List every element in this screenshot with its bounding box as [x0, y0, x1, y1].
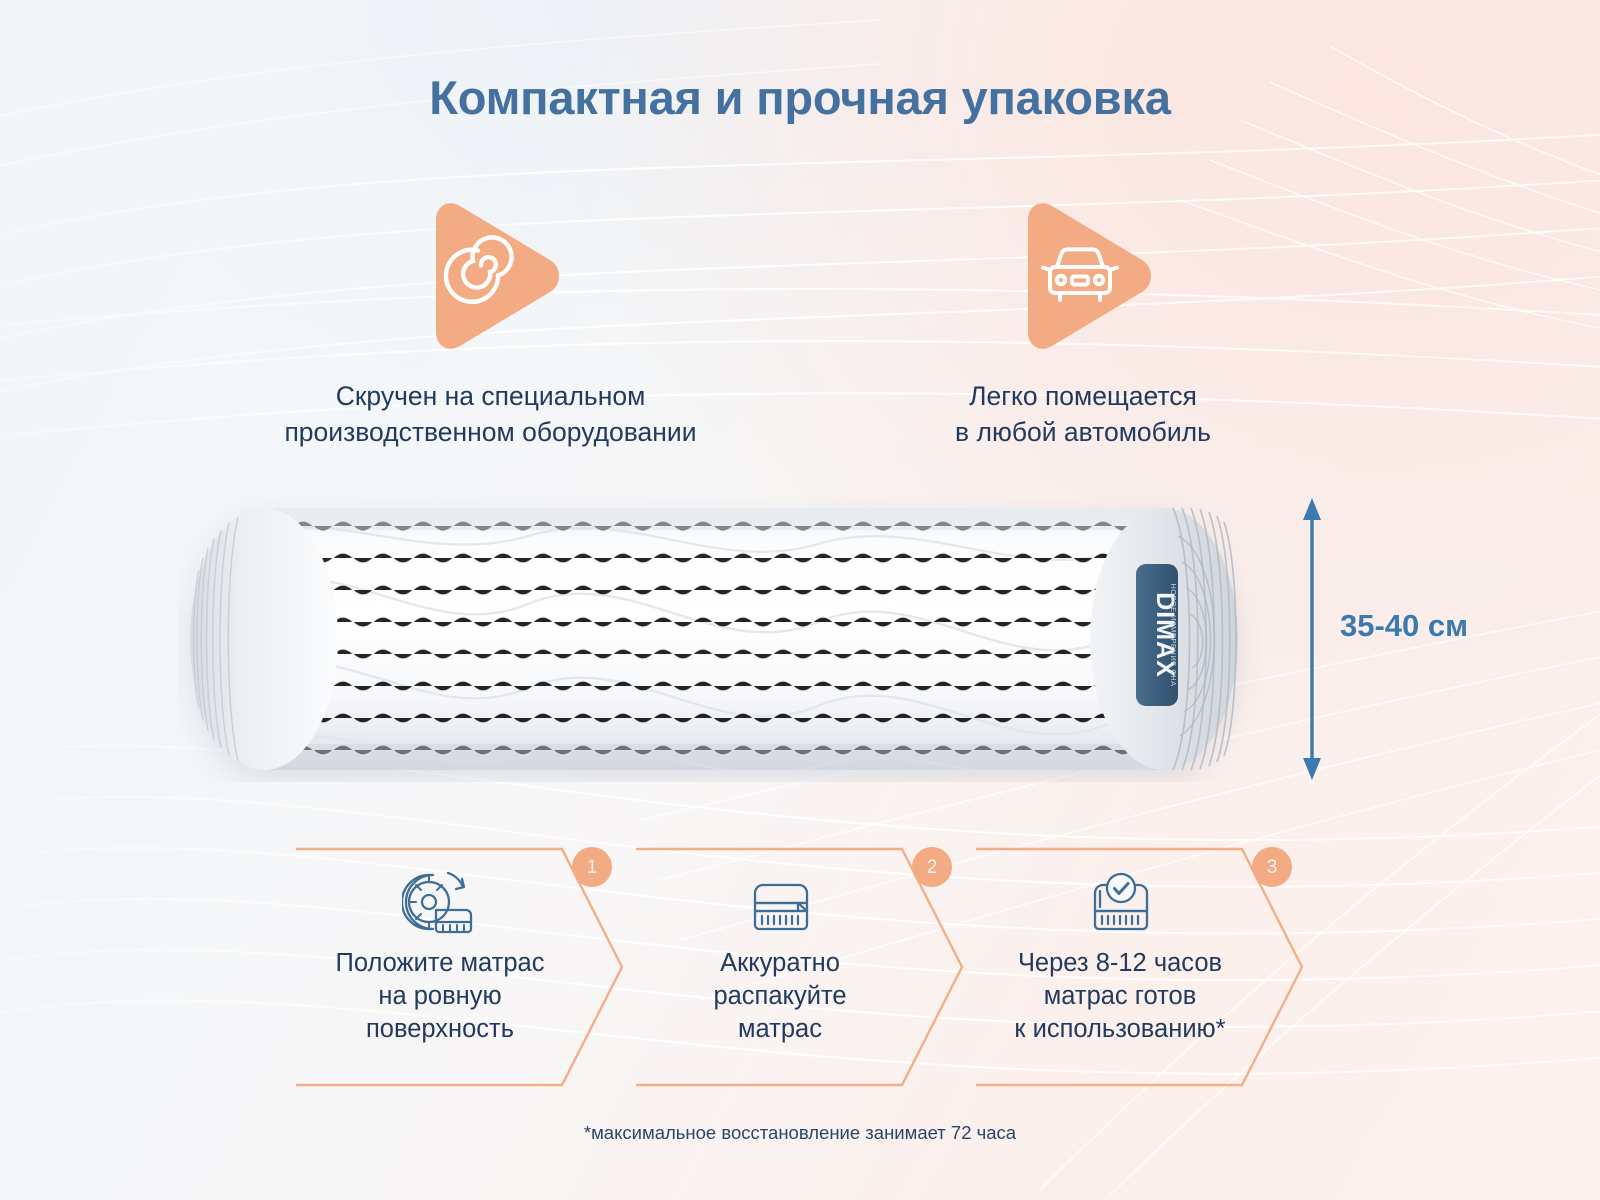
step-label: Аккуратно распакуйте матрас: [630, 947, 930, 1046]
step-number-badge: 1: [572, 847, 612, 887]
feature-fits-any-car: Легко помещается в любой автомобиль: [888, 196, 1278, 450]
feature-rolled-on-equipment: Скручен на специальном производственном …: [228, 196, 753, 450]
brand-tag: DIMAX НОВОЕ ИЗМЕРЕНИЕ СНА: [1136, 564, 1179, 706]
svg-text:НОВОЕ ИЗМЕРЕНИЕ СНА: НОВОЕ ИЗМЕРЕНИЕ СНА: [1169, 583, 1178, 686]
height-dimension: 35-40 см: [1288, 496, 1588, 782]
step-label: Положите матрас на ровную поверхность: [290, 947, 590, 1046]
feature-label: Легко помещается в любой автомобиль: [888, 378, 1278, 450]
unwrap-mattress-icon: [636, 867, 926, 939]
rolled-mattress-product: DIMAX НОВОЕ ИЗМЕРЕНИЕ СНА: [178, 496, 1268, 782]
feature-label: Скручен на специальном производственном …: [228, 378, 753, 450]
step-label: Через 8-12 часов матрас готов к использо…: [970, 947, 1270, 1046]
step-number-badge: 3: [1252, 847, 1292, 887]
rolled-mattress-icon: [296, 867, 586, 939]
spiral-roll-icon: [416, 196, 566, 356]
page-title: Компактная и прочная упаковка: [0, 70, 1600, 125]
infographic-canvas: Компактная и прочная упаковка Скручен на…: [0, 0, 1600, 1200]
footnote: *максимальное восстановление занимает 72…: [0, 1122, 1600, 1144]
dimension-label: 35-40 см: [1340, 608, 1468, 644]
step-1: 1 Положите матрас на ровную поверхность: [296, 843, 632, 1091]
step-2: 2 Аккуратно распакуйте матрас: [636, 843, 972, 1091]
steps-section: 1 Положите матрас на ровную поверхность: [296, 843, 1308, 1091]
car-icon: [1008, 196, 1158, 356]
step-number-badge: 2: [912, 847, 952, 887]
step-3: 3 Через 8-12 часов матрас готов к исполь…: [976, 843, 1312, 1091]
mattress-check-icon: [976, 867, 1266, 939]
